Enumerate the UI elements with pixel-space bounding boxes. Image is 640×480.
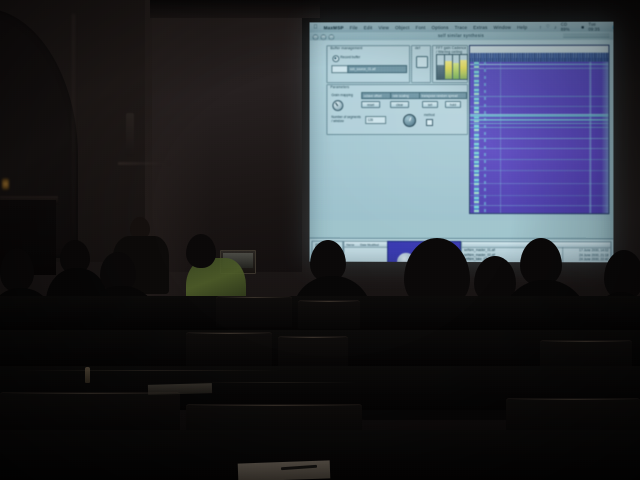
octave-offset-field[interactable]: octave offset	[361, 92, 390, 99]
chair-highlight-9	[190, 405, 360, 406]
parameters-group: Parameters Grain mapping octave offset r…	[326, 84, 468, 135]
menu-item-extras[interactable]: Extras	[473, 24, 487, 29]
arch-edge-highlight	[72, 14, 75, 262]
waveform-ticks	[470, 53, 608, 58]
clock-label[interactable]: Tue 09:35	[588, 22, 608, 32]
chair-highlight-1	[218, 297, 290, 298]
volume-icon[interactable]: ♪	[554, 24, 557, 29]
harmonic-line-1	[470, 96, 608, 97]
column-header-date[interactable]: Date Modified	[360, 242, 378, 246]
paper-sheet-back	[148, 383, 212, 395]
max-patcher-canvas[interactable]: Buffer management Record buffer ssb_sour…	[310, 40, 614, 221]
chair-back-6	[0, 392, 180, 433]
menu-item-font[interactable]: Font	[415, 25, 425, 30]
column-header-name[interactable]: Name	[346, 242, 354, 246]
battery-status-label[interactable]: CD 89%	[561, 22, 578, 32]
hold-button[interactable]: hold	[445, 101, 461, 108]
menu-item-window[interactable]: Window	[493, 24, 511, 29]
harmonic-band-3	[470, 123, 608, 124]
menu-status-area[interactable]: ↑ ♡ ♪ CD 89% ■ Tue 09:35	[539, 22, 613, 32]
spotlight-icon[interactable]	[613, 24, 614, 29]
harmonic-line-9	[470, 205, 608, 206]
ceiling-soffit	[150, 0, 320, 18]
record-buffer-label: Record buffer	[340, 55, 360, 59]
menu-item-file[interactable]: File	[350, 25, 358, 30]
chair-highlight-3	[188, 333, 270, 334]
heart-icon[interactable]: ♡	[546, 24, 550, 30]
def-toggle-button[interactable]	[416, 56, 428, 68]
menu-item-options[interactable]: Options	[431, 25, 448, 30]
wall-fixture	[126, 113, 134, 156]
harmonic-line-8	[470, 195, 608, 196]
harmonic-line-7	[470, 183, 608, 184]
load-button-field[interactable]	[331, 65, 348, 73]
spec-separator-2	[470, 68, 608, 70]
control-panel[interactable]: Buffer management Record buffer ssb_sour…	[326, 45, 466, 133]
harmonic-line-2	[470, 106, 608, 107]
harmonic-line-4	[470, 148, 608, 149]
spec-separator-top	[470, 64, 608, 66]
menu-item-object[interactable]: Object	[395, 25, 409, 30]
segments-count-label: Number of segments / window	[331, 115, 361, 123]
chair-back-4	[278, 336, 348, 369]
segments-count-field[interactable]: 128	[365, 116, 385, 123]
reset-button[interactable]: reset	[361, 101, 380, 108]
gain-group: FFT gain Cadence / filtering ceiling	[432, 45, 468, 83]
bluetooth-icon[interactable]: ↑	[539, 24, 542, 29]
spectrogram-canvas	[470, 62, 608, 213]
chair-highlight-5	[542, 341, 630, 342]
modem-icon[interactable]: ■	[581, 24, 584, 29]
grain-knob[interactable]	[332, 100, 343, 111]
chair-back-3	[186, 332, 272, 367]
grain-mapping-label: Grain mapping	[331, 93, 353, 97]
chair-highlight-4	[280, 337, 346, 338]
buffer-file-field[interactable]: ssb_source_01.aif	[347, 65, 406, 73]
spectrogram-right-edge	[601, 62, 608, 213]
method-label: method	[424, 113, 435, 117]
def-group: def	[411, 45, 431, 83]
waveform-overview	[470, 46, 608, 62]
harmonic-line-3	[470, 138, 608, 139]
menu-item-help[interactable]: Help	[517, 24, 527, 29]
harmonic-line-5	[470, 159, 608, 160]
harmonic-band-1	[470, 114, 608, 117]
menu-item-trace[interactable]: Trace	[455, 24, 468, 29]
chair-highlight-2	[300, 301, 358, 302]
parameters-label: Parameters	[330, 85, 349, 89]
master-knob[interactable]	[403, 114, 416, 127]
set-button[interactable]: set	[422, 101, 438, 108]
spectrogram-display[interactable]	[469, 45, 609, 215]
chair-highlight-10	[510, 399, 638, 400]
buffer-management-group: Buffer management Record buffer ssb_sour…	[326, 45, 410, 83]
menu-app-name[interactable]: MaxMSP	[324, 25, 344, 30]
lecture-hall-photo:  MaxMSP File Edit View Object Font Opti…	[0, 0, 640, 480]
harmonic-band-4	[470, 127, 608, 128]
meter-gain-c[interactable]	[459, 54, 467, 80]
buffer-management-label: Buffer management	[330, 46, 362, 50]
wall-shelf-line	[118, 162, 170, 165]
clear-button[interactable]: clear	[390, 101, 409, 108]
paper-sheet	[238, 460, 331, 480]
amber-light-icon	[2, 178, 9, 190]
apple-logo-icon[interactable]: 	[313, 24, 317, 30]
title-bar-texture	[563, 34, 609, 38]
def-group-label: def	[415, 46, 420, 50]
transpose-spread-field[interactable]: transpose random spread	[419, 92, 466, 99]
menu-item-edit[interactable]: Edit	[364, 25, 373, 30]
menu-item-view[interactable]: View	[378, 25, 389, 30]
chair-back-1	[216, 296, 292, 327]
gain-group-label: FFT gain Cadence / filtering ceiling	[436, 45, 467, 53]
harmonic-band-2	[470, 119, 608, 121]
rate-scaling-field[interactable]: rate scaling	[390, 92, 419, 99]
audience-head-3	[186, 234, 216, 268]
projection-screen:  MaxMSP File Edit View Object Font Opti…	[310, 22, 614, 263]
record-buffer-radio[interactable]	[332, 55, 339, 62]
chair-highlight-7	[196, 382, 356, 383]
chair-back-2	[298, 300, 360, 329]
water-bottle	[85, 367, 90, 383]
method-checkbox[interactable]	[426, 119, 432, 125]
audience-head-4	[0, 248, 34, 292]
audience-head-8	[520, 238, 562, 286]
chair-highlight-6	[18, 370, 278, 371]
harmonic-line-6	[470, 170, 608, 171]
